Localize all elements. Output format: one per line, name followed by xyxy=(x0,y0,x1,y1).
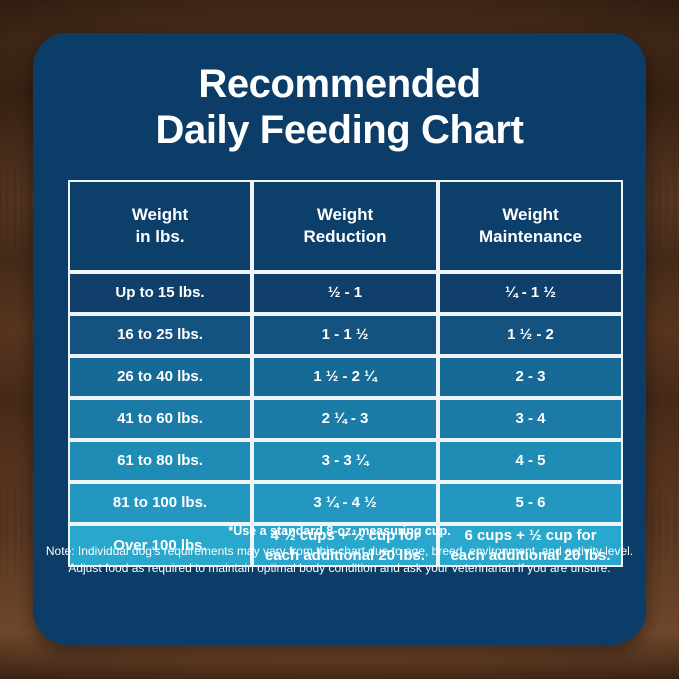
feeding-chart-table: Weight in lbs. Weight Reduction Weight M… xyxy=(68,180,623,567)
cell-reduction: 1 - 1 ½ xyxy=(252,314,438,356)
table-row: Up to 15 lbs. ½ - 1 ¼ - 1 ½ xyxy=(68,272,623,314)
column-header-weight-line-2: in lbs. xyxy=(70,226,250,248)
cell-maintenance: 3 - 4 xyxy=(438,398,623,440)
column-header-weight-line-1: Weight xyxy=(70,204,250,226)
cell-reduction: ½ - 1 xyxy=(252,272,438,314)
title-line-2: Daily Feeding Chart xyxy=(63,107,616,153)
table-row: 61 to 80 lbs. 3 - 3 ¼ 4 - 5 xyxy=(68,440,623,482)
cell-maintenance: 4 - 5 xyxy=(438,440,623,482)
column-header-weight-maintenance: Weight Maintenance xyxy=(438,180,623,272)
cell-maintenance: 1 ½ - 2 xyxy=(438,314,623,356)
cell-weight: 81 to 100 lbs. xyxy=(68,482,252,524)
column-header-maintenance-line-1: Weight xyxy=(440,204,621,226)
column-header-weight: Weight in lbs. xyxy=(68,180,252,272)
column-header-reduction-line-1: Weight xyxy=(254,204,436,226)
cell-weight: Up to 15 lbs. xyxy=(68,272,252,314)
measuring-cup-note: *Use a standard 8-oz. measuring cup. xyxy=(33,523,646,539)
cell-reduction: 3 ¼ - 4 ½ xyxy=(252,482,438,524)
page-title: Recommended Daily Feeding Chart xyxy=(33,33,646,154)
footnotes: *Use a standard 8-oz. measuring cup. Not… xyxy=(33,523,646,577)
disclaimer-line-1: Note: Individual dog's requirements may … xyxy=(33,543,646,560)
table-row: 81 to 100 lbs. 3 ¼ - 4 ½ 5 - 6 xyxy=(68,482,623,524)
table-row: 16 to 25 lbs. 1 - 1 ½ 1 ½ - 2 xyxy=(68,314,623,356)
disclaimer-line-2: Adjust food as required to maintain opti… xyxy=(33,560,646,577)
table-header-row: Weight in lbs. Weight Reduction Weight M… xyxy=(68,180,623,272)
column-header-weight-reduction: Weight Reduction xyxy=(252,180,438,272)
title-line-1: Recommended xyxy=(63,61,616,107)
cell-reduction: 1 ½ - 2 ¼ xyxy=(252,356,438,398)
feeding-chart-card: Recommended Daily Feeding Chart Weight i… xyxy=(33,33,646,645)
cell-maintenance: 5 - 6 xyxy=(438,482,623,524)
column-header-maintenance-line-2: Maintenance xyxy=(440,226,621,248)
cell-weight: 16 to 25 lbs. xyxy=(68,314,252,356)
cell-maintenance: ¼ - 1 ½ xyxy=(438,272,623,314)
cell-weight: 41 to 60 lbs. xyxy=(68,398,252,440)
column-header-reduction-line-2: Reduction xyxy=(254,226,436,248)
table-row: 26 to 40 lbs. 1 ½ - 2 ¼ 2 - 3 xyxy=(68,356,623,398)
cell-weight: 61 to 80 lbs. xyxy=(68,440,252,482)
cell-reduction: 3 - 3 ¼ xyxy=(252,440,438,482)
table-row: 41 to 60 lbs. 2 ¼ - 3 3 - 4 xyxy=(68,398,623,440)
cell-maintenance: 2 - 3 xyxy=(438,356,623,398)
cell-weight: 26 to 40 lbs. xyxy=(68,356,252,398)
cell-reduction: 2 ¼ - 3 xyxy=(252,398,438,440)
